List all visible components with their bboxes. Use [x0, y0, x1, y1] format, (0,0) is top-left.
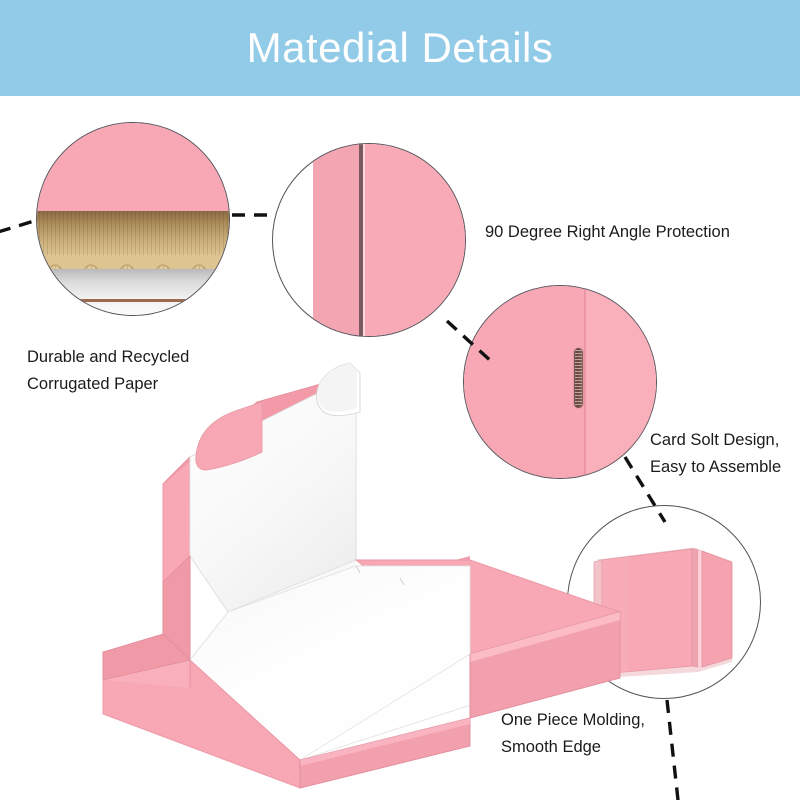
caption-corrugated: Durable and Recycled Corrugated Paper [27, 344, 189, 398]
detail-circle-one-piece [567, 505, 761, 699]
closed-mailer-box-icon [568, 506, 761, 699]
caption-one-piece-line-1: One Piece Molding, [501, 707, 645, 734]
caption-card-slot-line-2: Easy to Assemble [650, 454, 781, 481]
corrugated-base-line [63, 299, 209, 302]
box-corner-highlight [363, 143, 365, 337]
corrugated-white-liner [36, 269, 230, 316]
caption-corrugated-line-1: Durable and Recycled [27, 344, 189, 371]
corrugated-pink-liner [36, 122, 230, 213]
box-side-panel [313, 143, 361, 337]
caption-one-piece: One Piece Molding, Smooth Edge [501, 707, 645, 761]
leader-left-stub [0, 221, 34, 232]
card-slot-icon [574, 348, 583, 408]
page-title: Matedial Details [0, 0, 800, 96]
detail-circle-right-angle [272, 143, 466, 337]
caption-card-slot-line-1: Card Solt Design, [650, 427, 781, 454]
detail-circle-corrugated [36, 122, 230, 316]
box-front-panel [363, 143, 466, 337]
card-slot-side-panel [586, 285, 657, 479]
card-slot-fold-line [584, 285, 586, 479]
infographic-canvas: Matedial Details [0, 0, 800, 800]
caption-one-piece-line-2: Smooth Edge [501, 734, 645, 761]
caption-right-angle-line-1: 90 Degree Right Angle Protection [485, 219, 730, 246]
detail-circle-card-slot [463, 285, 657, 479]
caption-corrugated-line-2: Corrugated Paper [27, 371, 189, 398]
caption-card-slot: Card Solt Design, Easy to Assemble [650, 427, 781, 481]
caption-right-angle: 90 Degree Right Angle Protection [485, 219, 730, 246]
header-banner: Matedial Details [0, 0, 800, 96]
leader-one-piece-down [667, 700, 678, 800]
